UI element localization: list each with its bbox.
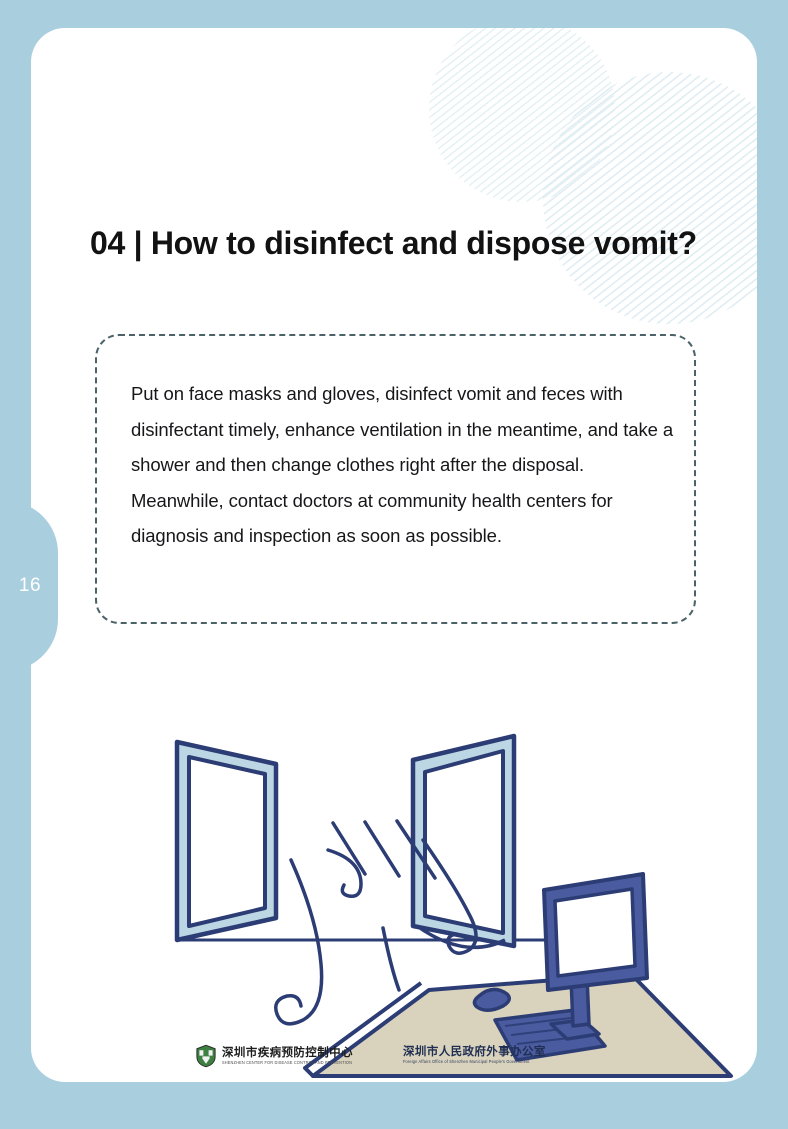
answer-text: Put on face masks and gloves, disinfect … xyxy=(131,376,676,554)
page-title-text: 04 | How to disinfect and dispose vomit? xyxy=(90,224,730,262)
foreign-affairs-office-text: 深圳市人民政府外事办公室 Foreign Affairs Office of S… xyxy=(403,1046,546,1065)
logo-shenzhen-cdc: 深圳市疾病预防控制中心 SHENZHEN CENTER FOR DISEASE … xyxy=(195,1044,353,1068)
hatched-circle-small-icon xyxy=(429,28,615,202)
logo-foreign-affairs-office: 深圳市人民政府外事办公室 Foreign Affairs Office of S… xyxy=(403,1046,546,1065)
poster-page: 04 | How to disinfect and dispose vomit?… xyxy=(0,0,788,1129)
left-window xyxy=(177,742,276,940)
shenzhen-cdc-text: 深圳市疾病预防控制中心 SHENZHEN CENTER FOR DISEASE … xyxy=(222,1047,353,1066)
page-title: 04 | How to disinfect and dispose vomit? xyxy=(90,224,730,262)
shenzhen-cdc-name-en: SHENZHEN CENTER FOR DISEASE CONTROL AND … xyxy=(222,1060,353,1066)
foreign-affairs-office-name-en: Foreign Affairs Office of Shenzhen Munic… xyxy=(403,1059,546,1065)
illustration-svg xyxy=(31,678,757,1082)
right-window xyxy=(413,736,514,947)
page-number: 16 xyxy=(19,575,41,597)
shenzhen-cdc-shield-icon xyxy=(195,1044,217,1068)
foreign-affairs-office-name-cn: 深圳市人民政府外事办公室 xyxy=(403,1046,546,1059)
footer-logos: 深圳市疾病预防控制中心 SHENZHEN CENTER FOR DISEASE … xyxy=(195,1040,615,1080)
content-card: 04 | How to disinfect and dispose vomit?… xyxy=(31,28,757,1082)
page-number-tab: 16 xyxy=(0,501,58,671)
open-windows-ventilation-desk-illustration xyxy=(31,678,757,1082)
hatched-circle-large-icon xyxy=(543,72,757,324)
answer-box: Put on face masks and gloves, disinfect … xyxy=(95,334,696,624)
shenzhen-cdc-name-cn: 深圳市疾病预防控制中心 xyxy=(222,1047,353,1060)
